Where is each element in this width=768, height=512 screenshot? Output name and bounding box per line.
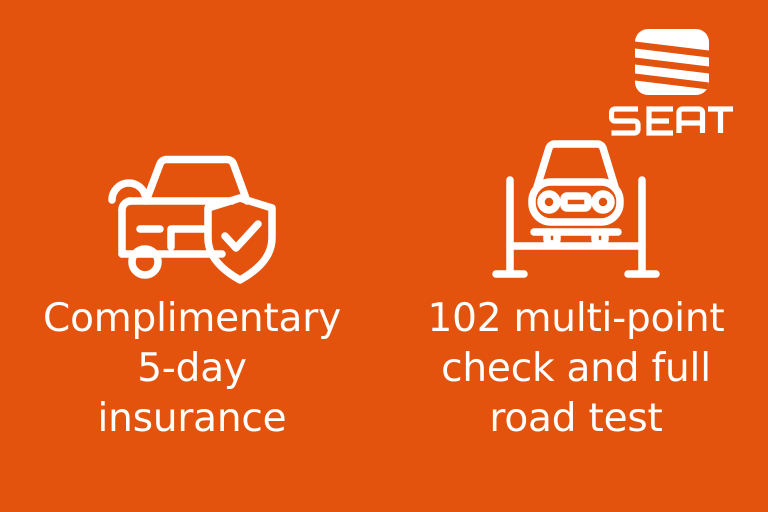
seat-logo [609, 28, 735, 138]
features-row: Complimentary 5-day insurance [0, 128, 768, 444]
promo-banner: Complimentary 5-day insurance [0, 0, 768, 512]
feature-caption-insurance: Complimentary 5-day insurance [12, 294, 372, 444]
car-shield-insurance-icon [92, 128, 292, 288]
car-on-lift-inspection-icon [476, 128, 676, 288]
seat-s-logo-icon [634, 28, 710, 96]
feature-item-insurance: Complimentary 5-day insurance [0, 128, 384, 444]
feature-item-inspection: 102 multi-point check and full road test [384, 128, 768, 444]
feature-caption-inspection: 102 multi-point check and full road test [396, 294, 756, 444]
